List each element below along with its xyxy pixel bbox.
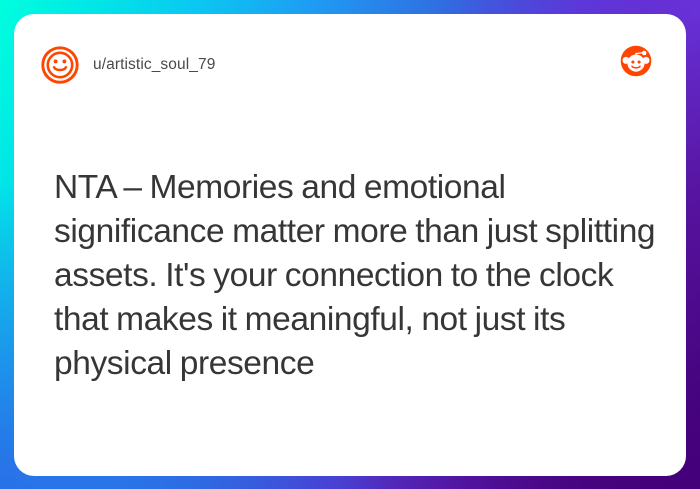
post-body: NTA – Memories and emotional significanc… [54,166,674,386]
screenshot-canvas: u/artistic_soul_79 NTA – Memories and em… [0,0,700,489]
reddit-comment-card: u/artistic_soul_79 NTA – Memories and em… [14,14,686,476]
author-username[interactable]: u/artistic_soul_79 [93,56,215,74]
smiley-face-circle-icon[interactable] [40,45,80,85]
reddit-snoo-icon[interactable] [620,45,652,77]
post-body-text: NTA – Memories and emotional significanc… [54,166,674,386]
post-header: u/artistic_soul_79 [40,40,660,90]
